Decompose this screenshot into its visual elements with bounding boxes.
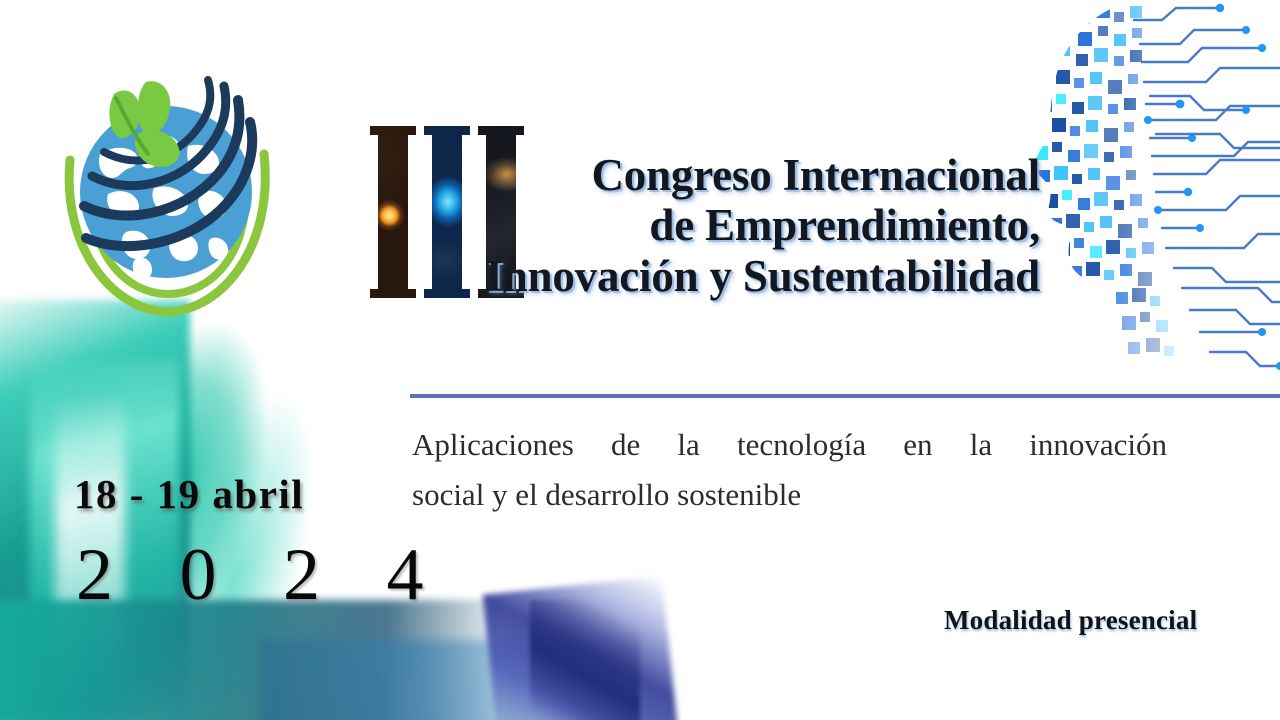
page-title: Congreso Internacional de Emprendimiento… — [410, 150, 1040, 301]
event-year: 2 0 2 4 — [76, 533, 448, 618]
blue-bottom-wash — [260, 640, 680, 720]
subtitle-line-1: Aplicaciones de la tecnología en la inno… — [412, 420, 1167, 470]
ai-digital-head-icon — [1030, 0, 1280, 400]
conference-poster: Congreso Internacional de Emprendimiento… — [0, 0, 1280, 720]
title-line-1: Congreso Internacional — [410, 150, 1040, 200]
teal-bottom-wash — [0, 600, 500, 720]
event-date-range: 18 - 19 abril — [74, 470, 304, 518]
title-line-2: de Emprendimiento, — [410, 200, 1040, 250]
title-line-3: Innovación y Sustentabilidad — [410, 251, 1040, 301]
event-modality: Modalidad presencial — [944, 605, 1197, 636]
subtitle-line-2: social y el desarrollo sostenible — [412, 470, 1167, 520]
divider — [410, 394, 1280, 398]
subtitle: Aplicaciones de la tecnología en la inno… — [412, 420, 1167, 520]
congress-logo — [42, 42, 292, 317]
indigo-brush-stroke — [483, 576, 678, 720]
head-pixel-mosaic — [1030, 0, 1280, 400]
indigo-brush-stroke-core — [530, 600, 640, 720]
